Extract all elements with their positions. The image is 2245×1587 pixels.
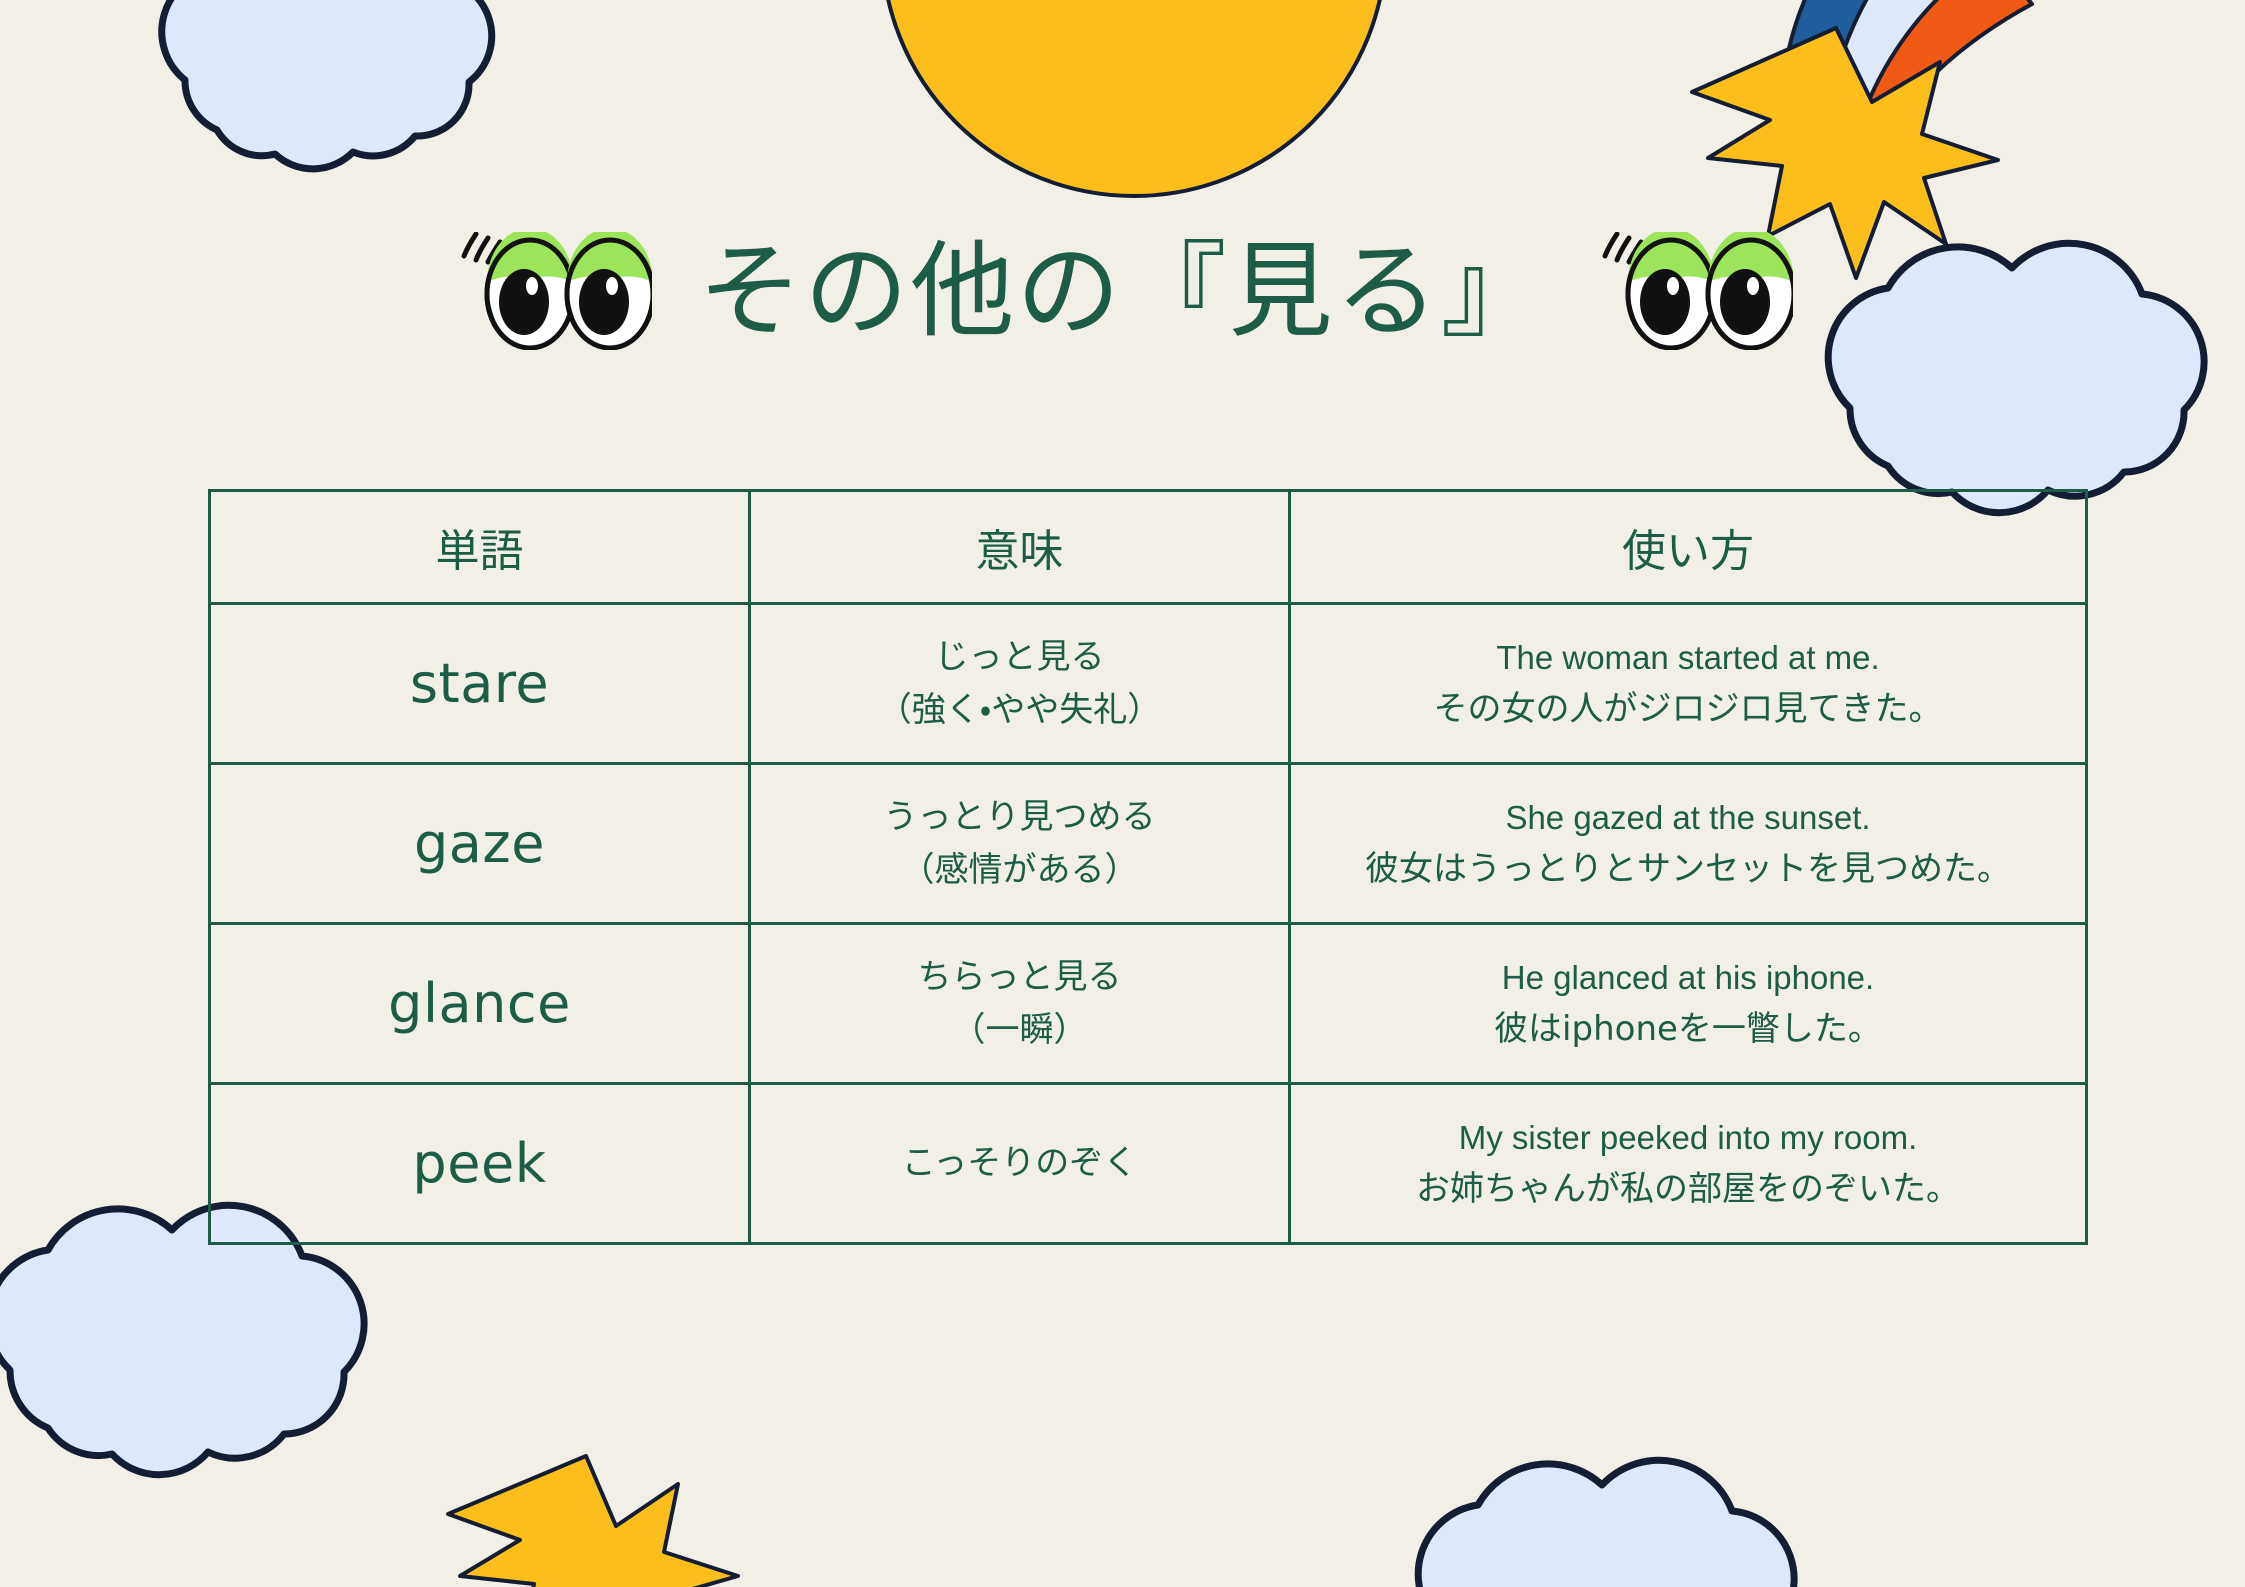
usage-english: The woman started at me. bbox=[1301, 632, 2075, 683]
usage-japanese: 彼女はうっとりとサンセットを見つめた。 bbox=[1301, 843, 2075, 896]
meaning-line-1: じっと見る bbox=[761, 631, 1278, 684]
usage-english: My sister peeked into my room. bbox=[1301, 1112, 2075, 1163]
eyes-emoji-left-icon bbox=[452, 232, 652, 350]
cell-word: gaze bbox=[210, 764, 750, 924]
table-row: peek こっそりのぞく My sister peeked into my ro… bbox=[210, 1084, 2087, 1244]
cell-word: peek bbox=[210, 1084, 750, 1244]
meaning-line-2: （一瞬） bbox=[761, 1004, 1278, 1057]
column-header-word: 単語 bbox=[210, 491, 750, 604]
usage-english: He glanced at his iphone. bbox=[1301, 952, 2075, 1003]
table-header-row: 単語 意味 使い方 bbox=[210, 491, 2087, 604]
meaning-line-2: （強く・やや失礼） bbox=[761, 684, 1278, 737]
cell-usage: She gazed at the sunset. 彼女はうっとりとサンセットを見… bbox=[1290, 764, 2087, 924]
cell-usage: The woman started at me. その女の人がジロジロ見てきた。 bbox=[1290, 604, 2087, 764]
vocabulary-table: 単語 意味 使い方 stare じっと見る （強く・やや失礼） The woma… bbox=[208, 489, 2088, 1245]
cell-meaning: うっとり見つめる （感情がある） bbox=[750, 764, 1290, 924]
usage-japanese: その女の人がジロジロ見てきた。 bbox=[1301, 683, 2075, 736]
sun-icon bbox=[880, 0, 1388, 198]
table-row: stare じっと見る （強く・やや失礼） The woman started … bbox=[210, 604, 2087, 764]
meaning-line-2: （感情がある） bbox=[761, 844, 1278, 897]
column-header-meaning: 意味 bbox=[750, 491, 1290, 604]
cell-usage: My sister peeked into my room. お姉ちゃんが私の部… bbox=[1290, 1084, 2087, 1244]
cell-usage: He glanced at his iphone. 彼はiphoneを一瞥した。 bbox=[1290, 924, 2087, 1084]
meaning-line-1: こっそりのぞく bbox=[761, 1137, 1278, 1190]
table-row: gaze うっとり見つめる （感情がある） She gazed at the s… bbox=[210, 764, 2087, 924]
cell-word: glance bbox=[210, 924, 750, 1084]
cell-meaning: ちらっと見る （一瞬） bbox=[750, 924, 1290, 1084]
cloud-top-left-icon bbox=[125, 0, 525, 180]
usage-english: She gazed at the sunset. bbox=[1301, 792, 2075, 843]
column-header-usage: 使い方 bbox=[1290, 491, 2087, 604]
meaning-line-1: うっとり見つめる bbox=[761, 791, 1278, 844]
title-row: その他の『見る』 bbox=[0, 196, 2245, 386]
usage-japanese: 彼はiphoneを一瞥した。 bbox=[1301, 1003, 2075, 1056]
table-row: glance ちらっと見る （一瞬） He glanced at his iph… bbox=[210, 924, 2087, 1084]
cell-meaning: じっと見る （強く・やや失礼） bbox=[750, 604, 1290, 764]
cloud-bottom-right-icon bbox=[1370, 1445, 1870, 1587]
meaning-line-1: ちらっと見る bbox=[761, 951, 1278, 1004]
cell-word: stare bbox=[210, 604, 750, 764]
eyes-emoji-right-icon bbox=[1593, 232, 1793, 350]
page-title: その他の『見る』 bbox=[698, 239, 1547, 343]
usage-japanese: お姉ちゃんが私の部屋をのぞいた。 bbox=[1301, 1163, 2075, 1216]
poster-canvas: その他の『見る』 bbox=[0, 0, 2245, 1587]
cell-meaning: こっそりのぞく bbox=[750, 1084, 1290, 1244]
shooting-star-bottom-left-icon bbox=[420, 1400, 860, 1587]
